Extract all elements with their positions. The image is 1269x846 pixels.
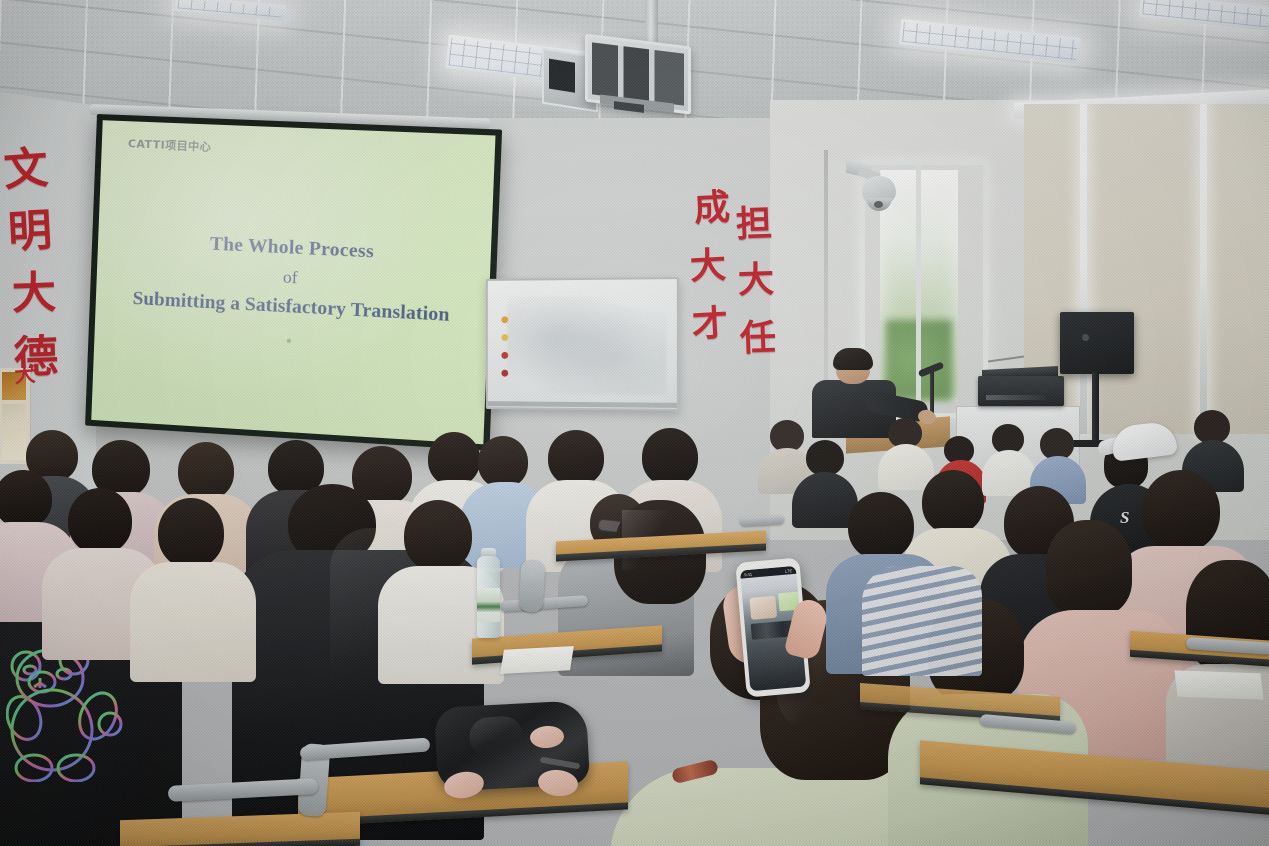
slide-logo: CATTI项目中心 bbox=[128, 135, 212, 154]
slide-title-line2: of bbox=[97, 258, 490, 298]
calligraphy-char: 大 bbox=[689, 247, 727, 285]
phone-status-bar: 9:41 LTE bbox=[740, 566, 796, 579]
chair-frame bbox=[519, 559, 546, 612]
calligraphy-char: 担 bbox=[735, 205, 772, 242]
magnet-dark-red bbox=[501, 370, 508, 377]
blind-light-gap bbox=[1080, 104, 1087, 434]
whiteboard-magnets bbox=[501, 316, 509, 387]
whiteboard-smudge bbox=[507, 295, 666, 394]
calligraphy-char: 明 bbox=[7, 209, 53, 255]
slide-title-line3: Submitting a Satisfactory Translation bbox=[96, 286, 489, 329]
phone-clock: 9:41 bbox=[744, 571, 752, 577]
slide-dust-spot bbox=[287, 339, 291, 343]
calligraphy-char: 文 bbox=[3, 147, 50, 194]
calligraphy-char: 大 bbox=[11, 271, 57, 317]
presenter-hair bbox=[833, 348, 873, 370]
jacket-s-logo: S bbox=[1120, 508, 1129, 528]
projector-mount-rod bbox=[645, 0, 658, 44]
magnet-red bbox=[501, 352, 508, 359]
calligraphy-char: 成 bbox=[693, 189, 731, 227]
magnet-yellow bbox=[501, 334, 508, 341]
phone-signal-icon: LTE bbox=[785, 568, 792, 574]
pa-speaker bbox=[1060, 312, 1134, 374]
wall-red-mark: 大 bbox=[13, 356, 58, 379]
speaker-stand-pole bbox=[1092, 372, 1099, 446]
projection-screen-surface: CATTI项目中心 The Whole Process of Submittin… bbox=[91, 120, 495, 444]
calligraphy-char: 大 bbox=[737, 261, 774, 298]
av-amplifier bbox=[978, 376, 1064, 406]
paper-sheet bbox=[500, 646, 574, 674]
phone-preview-face bbox=[749, 596, 777, 620]
bottle-label bbox=[477, 588, 500, 622]
calligraphy-char: 任 bbox=[739, 319, 776, 356]
slide-title-line1: The Whole Process bbox=[98, 228, 491, 269]
paper-sheet bbox=[1174, 670, 1263, 699]
calligraphy-char: 才 bbox=[691, 305, 729, 343]
classroom-photo: 文 明 大 德 成 大 才 担 大 任 大 CATTI项目中心 The Whol… bbox=[0, 0, 1269, 846]
whiteboard-tray bbox=[488, 401, 677, 408]
whiteboard bbox=[486, 277, 679, 411]
projection-screen: CATTI项目中心 The Whole Process of Submittin… bbox=[85, 114, 502, 451]
poster-sheet bbox=[2, 430, 26, 460]
desk-edge bbox=[120, 839, 360, 846]
magnet-orange bbox=[501, 316, 508, 323]
poster-sheet bbox=[2, 404, 26, 428]
blind-light-gap bbox=[1200, 104, 1207, 434]
slide-text-block: The Whole Process of Submitting a Satisf… bbox=[96, 228, 492, 329]
